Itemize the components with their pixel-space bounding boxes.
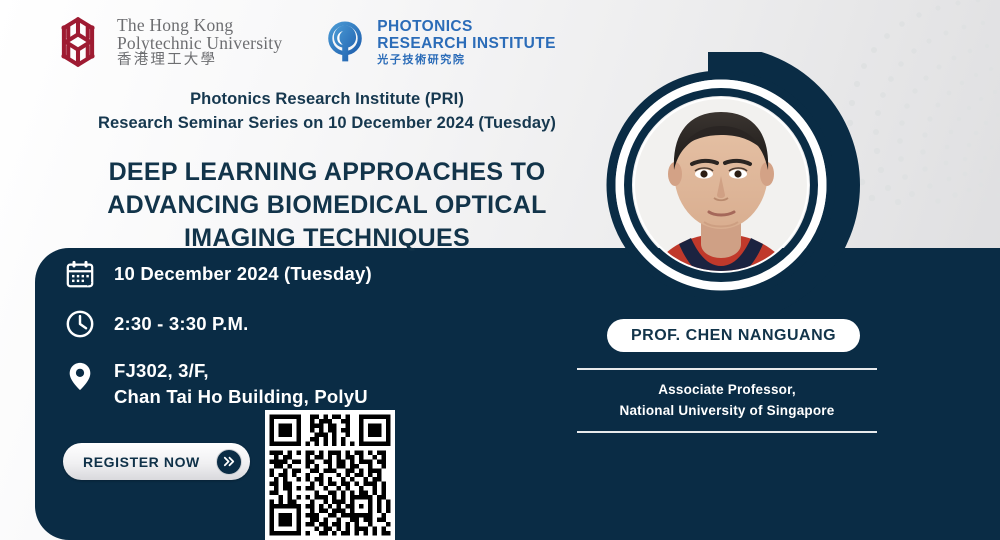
speaker-name-badge: PROF. CHEN NANGUANG	[607, 319, 860, 352]
talk-title-line1: DEEP LEARNING APPROACHES TO	[42, 156, 612, 189]
event-venue-row: FJ302, 3/F, Chan Tai Ho Building, PolyU	[64, 358, 464, 411]
speaker-portrait-block	[588, 52, 888, 337]
headline-block: Photonics Research Institute (PRI) Resea…	[42, 88, 612, 255]
affiliation-line1: Associate Professor,	[658, 382, 796, 397]
header-logos: The Hong Kong Polytechnic University 香港理…	[50, 16, 556, 68]
event-date-text: 10 December 2024 (Tuesday)	[114, 261, 372, 287]
double-chevron-right-icon	[216, 449, 242, 475]
calendar-icon	[64, 258, 96, 290]
polyu-logo-line3: 香港理工大學	[117, 53, 282, 68]
affiliation-divider-bottom	[577, 431, 877, 433]
affiliation-line2: National University of Singapore	[620, 403, 835, 418]
pri-circle-logo-icon	[322, 19, 368, 65]
pri-logo: PHOTONICS RESEARCH INSTITUTE 光子技術研究院	[322, 18, 556, 66]
pri-logo-line1: PHOTONICS	[377, 18, 556, 35]
series-line-2: Research Seminar Series on 10 December 2…	[42, 112, 612, 136]
polyu-logo: The Hong Kong Polytechnic University 香港理…	[50, 16, 282, 68]
speaker-affiliation: Associate Professor, National University…	[577, 368, 877, 433]
event-time-row: 2:30 - 3:30 P.M.	[64, 308, 464, 340]
registration-qr-code[interactable]	[265, 410, 395, 540]
event-venue-line2: Chan Tai Ho Building, PolyU	[114, 386, 368, 407]
seminar-poster: The Hong Kong Polytechnic University 香港理…	[0, 0, 1000, 540]
clock-icon	[64, 308, 96, 340]
event-time-text: 2:30 - 3:30 P.M.	[114, 311, 248, 337]
register-now-button[interactable]: REGISTER NOW	[63, 443, 250, 480]
polyu-logo-line1: The Hong Kong	[117, 16, 282, 34]
location-pin-icon	[64, 360, 96, 392]
polyu-logo-line2: Polytechnic University	[117, 34, 282, 52]
event-venue-text: FJ302, 3/F, Chan Tai Ho Building, PolyU	[114, 358, 368, 411]
event-date-row: 10 December 2024 (Tuesday)	[64, 258, 464, 290]
polyu-knot-logo-icon	[50, 16, 106, 68]
talk-title: DEEP LEARNING APPROACHES TO ADVANCING BI…	[42, 156, 612, 255]
pri-logo-line2: RESEARCH INSTITUTE	[377, 35, 556, 52]
affiliation-text: Associate Professor, National University…	[577, 370, 877, 431]
talk-title-line3: IMAGING TECHNIQUES	[42, 222, 612, 255]
event-venue-line1: FJ302, 3/F,	[114, 360, 209, 381]
pri-logo-line3: 光子技術研究院	[377, 54, 556, 66]
series-line-1: Photonics Research Institute (PRI)	[42, 88, 612, 112]
register-button-label: REGISTER NOW	[83, 454, 216, 470]
talk-title-line2: ADVANCING BIOMEDICAL OPTICAL	[42, 189, 612, 222]
event-details: 10 December 2024 (Tuesday) 2:30 - 3:30 P…	[64, 258, 464, 411]
speaker-name: PROF. CHEN NANGUANG	[631, 327, 836, 345]
